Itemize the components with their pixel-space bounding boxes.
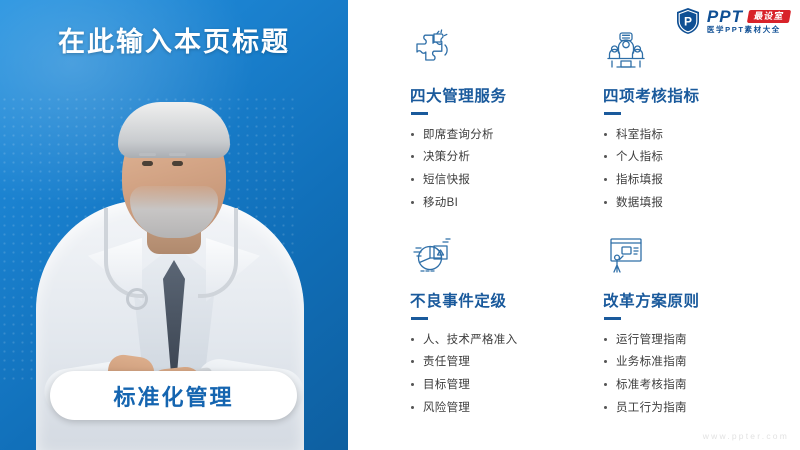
list-item: 责任管理 [410,351,603,374]
list-item: 指标填报 [603,169,796,192]
feature-list-3: 人、技术严格准入 责任管理 目标管理 风险管理 [410,329,603,420]
doctor-hair [118,102,230,158]
logo-tag-badge: 最设室 [747,10,791,23]
doctor-brow-left [139,153,156,156]
title-underline-2 [604,112,621,115]
feature-list-1: 即席查询分析 决策分析 短信快报 移动BI [410,124,603,215]
feature-title-3: 不良事件定级 [410,293,603,310]
list-item: 移动BI [410,192,603,215]
title-underline-4 [604,317,621,320]
meeting-people-icon [603,28,649,74]
list-item: 个人指标 [603,146,796,169]
doctor-brow-right [169,153,186,156]
left-hero-panel: 在此输入本页标题 标准化管理 [0,0,348,450]
list-item: 短信快报 [410,169,603,192]
list-item: 人、技术严格准入 [410,329,603,352]
stethoscope-bell [126,288,148,310]
feature-cell-4: 改革方案原则 运行管理指南 业务标准指南 标准考核指南 员工行为指南 [603,233,796,438]
list-item: 即席查询分析 [410,124,603,147]
title-underline-3 [411,317,428,320]
feature-title-2: 四项考核指标 [603,88,796,105]
site-watermark: www.ppter.com [703,431,789,441]
list-item: 业务标准指南 [603,351,796,374]
presentation-board-icon [603,233,649,279]
feature-cell-2: 四项考核指标 科室指标 个人指标 指标填报 数据填报 [603,28,796,233]
badge-label: 标准化管理 [113,380,233,412]
page-title: 在此输入本页标题 [0,20,348,59]
list-item: 数据填报 [603,192,796,215]
list-item: 决策分析 [410,146,603,169]
feature-list-4: 运行管理指南 业务标准指南 标准考核指南 员工行为指南 [603,329,796,420]
slide-root: 在此输入本页标题 标准化管理 [0,0,800,450]
feature-cell-3: 不良事件定级 人、技术严格准入 责任管理 目标管理 风险管理 [410,233,603,438]
logo-primary-row: PPT 最设室 [707,8,790,25]
logo-brand: PPT [707,8,743,25]
title-underline-1 [411,112,428,115]
feature-title-4: 改革方案原则 [603,293,796,310]
list-item: 风险管理 [410,397,603,420]
pie-chart-icon [410,233,456,279]
list-item: 目标管理 [410,374,603,397]
feature-list-2: 科室指标 个人指标 指标填报 数据填报 [603,124,796,215]
puzzle-icon [410,28,456,74]
svg-text:P: P [684,15,692,29]
standardized-management-badge[interactable]: 标准化管理 [50,371,297,420]
doctor-eye-right [172,161,183,166]
doctor-eye-left [142,161,153,166]
feature-grid: 四大管理服务 即席查询分析 决策分析 短信快报 移动BI [410,28,800,438]
feature-title-1: 四大管理服务 [410,88,603,105]
list-item: 运行管理指南 [603,329,796,352]
content-area: P PPT 最设室 医学PPT素材大全 [348,0,800,450]
feature-cell-1: 四大管理服务 即席查询分析 决策分析 短信快报 移动BI [410,28,603,233]
list-item: 标准考核指南 [603,374,796,397]
list-item: 员工行为指南 [603,397,796,420]
list-item: 科室指标 [603,124,796,147]
